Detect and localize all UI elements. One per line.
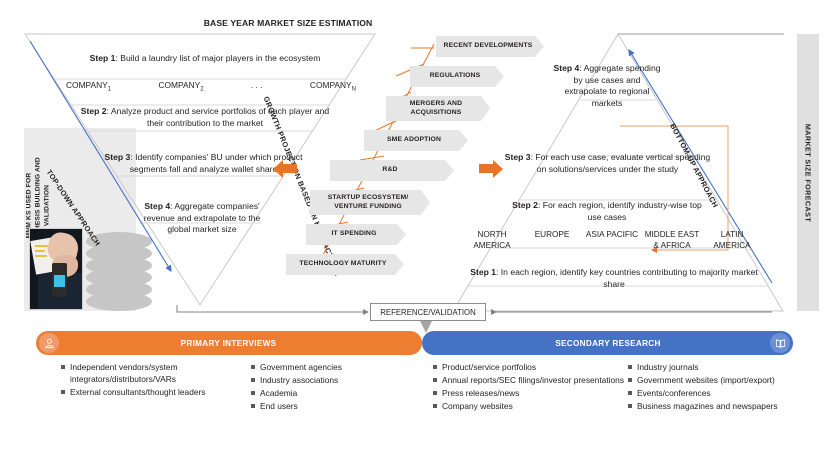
- company-1: COMPANY1: [66, 80, 111, 96]
- key-factors-group: RECENT DEVELOPMENTS REGULATIONS MERGERS …: [286, 36, 456, 276]
- market-size-forecast-bar: MARKET SIZE FORECAST: [797, 34, 819, 311]
- list-item: Industry associations: [250, 374, 425, 386]
- secondary-research-bar[interactable]: SECONDARY RESEARCH: [422, 331, 793, 355]
- list-item: Company websites: [432, 400, 627, 412]
- list-item: Independent vendors/system integrators/d…: [60, 361, 250, 385]
- right-step-2: Step 2: For each region, identify indust…: [512, 200, 702, 223]
- list-item: External consultants/thought leaders: [60, 386, 250, 398]
- list-item: Business magazines and newspapers: [627, 400, 807, 412]
- primary-interviews-bar[interactable]: PRIMARY INTERVIEWS: [36, 331, 422, 355]
- left-step-4: Step 4: Aggregate companies' revenue and…: [132, 201, 272, 236]
- factor-startup-ecosystem[interactable]: STARTUP ECOSYSTEM/ VENTURE FUNDING: [310, 190, 430, 215]
- list-item: Academia: [250, 387, 425, 399]
- list-item: End users: [250, 400, 425, 412]
- region-latin-america: LATIN AMERICA: [702, 230, 762, 251]
- regions-row: NORTH AMERICA EUROPE ASIA PACIFIC MIDDLE…: [462, 230, 762, 251]
- region-middle-east-africa: MIDDLE EAST & AFRICA: [642, 230, 702, 251]
- book-icon: [770, 333, 790, 353]
- page-title: BASE YEAR MARKET SIZE ESTIMATION: [148, 18, 428, 28]
- region-europe: EUROPE: [522, 230, 582, 251]
- left-to-reference-arrow: [150, 305, 374, 321]
- primary-col-2: Government agencies Industry association…: [250, 361, 425, 413]
- region-north-america: NORTH AMERICA: [462, 230, 522, 251]
- secondary-col-1: Product/service portfolios Annual report…: [432, 361, 627, 413]
- factor-rd[interactable]: R&D: [330, 160, 454, 181]
- reference-validation-box[interactable]: REFERENCE/VALIDATION: [370, 303, 486, 321]
- primary-interviews-lists: Independent vendors/system integrators/d…: [60, 361, 432, 413]
- list-item: Industry journals: [627, 361, 807, 373]
- company-ellipsis: . . .: [251, 80, 263, 92]
- list-item: Press releases/news: [432, 387, 627, 399]
- region-asia-pacific: ASIA PACIFIC: [582, 230, 642, 251]
- sources-section: PRIMARY INTERVIEWS SECONDARY RESEARCH In…: [36, 331, 793, 443]
- factor-technology-maturity[interactable]: TECHNOLOGY MATURITY: [286, 254, 404, 275]
- secondary-research-lists: Product/service portfolios Annual report…: [432, 361, 812, 413]
- right-to-reference-arrow: [484, 305, 774, 321]
- person-icon: [39, 333, 59, 353]
- company-2: COMPANY2: [158, 80, 203, 96]
- list-item: Events/conferences: [627, 387, 807, 399]
- list-item: Annual reports/SEC filings/investor pres…: [432, 374, 627, 386]
- list-item: Government websites (import/export): [627, 374, 807, 386]
- factor-it-spending[interactable]: IT SPENDING: [306, 224, 406, 245]
- primary-col-1: Independent vendors/system integrators/d…: [60, 361, 250, 413]
- arrow-left-orange: [272, 160, 298, 178]
- list-item: Product/service portfolios: [432, 361, 627, 373]
- list-item: Government agencies: [250, 361, 425, 373]
- right-step-1: Step 1: In each region, identify key cou…: [464, 267, 764, 290]
- secondary-col-2: Industry journals Government websites (i…: [627, 361, 807, 413]
- secondary-research-title: SECONDARY RESEARCH: [446, 339, 770, 348]
- primary-interviews-title: PRIMARY INTERVIEWS: [59, 339, 398, 348]
- right-step-4: Step 4: Aggregate spending by use cases …: [552, 63, 662, 109]
- market-size-forecast-label: MARKET SIZE FORECAST: [804, 123, 813, 221]
